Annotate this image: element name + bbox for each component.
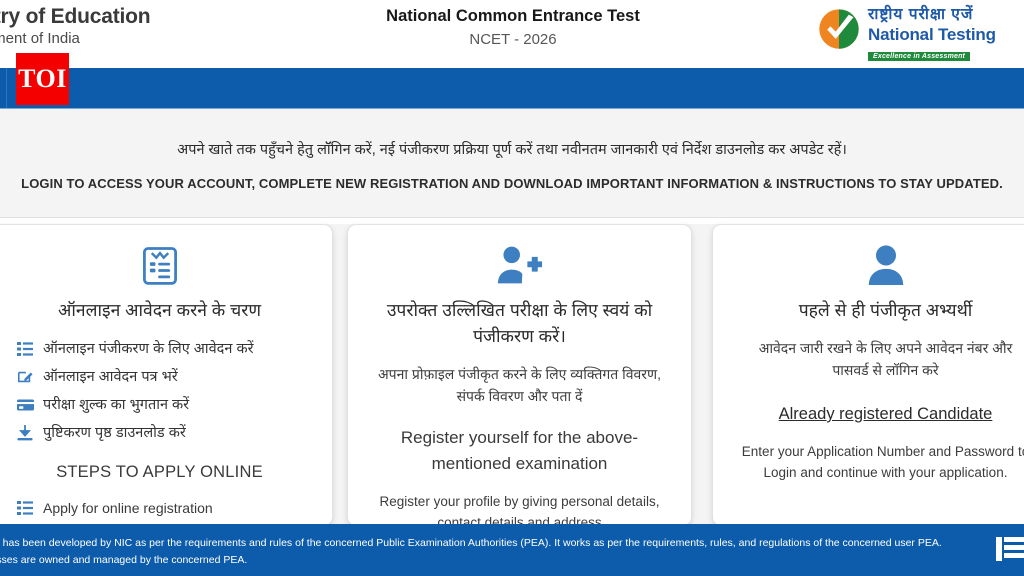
card-register-body-hindi: अपना प्रोफ़ाइल पंजीकृत करने के लिए व्यक्… — [348, 363, 691, 407]
exam-title: National Common Entrance Test — [330, 5, 696, 27]
footer-disclaimer-line2: processes are owned and managed by the c… — [0, 552, 1010, 569]
steps-list-hindi: ऑनलाइन पंजीकरण के लिए आवेदन करें ऑनलाइन … — [0, 335, 332, 447]
card-new-registration[interactable]: उपरोक्त उल्लिखित परीक्षा के लिए स्वयं को… — [347, 224, 692, 526]
edit-square-icon — [17, 369, 43, 385]
navbar-divider — [6, 68, 7, 108]
card-register-body-english: Register your profile by giving personal… — [348, 491, 691, 526]
card-steps-to-apply[interactable]: ऑनलाइन आवेदन करने के चरण ऑनलाइन पंजीकरण … — [0, 224, 333, 526]
card-login-heading-hindi: पहले से ही पंजीकृत अभ्यर्थी — [713, 297, 1024, 323]
nic-logo-icon — [996, 536, 1024, 562]
card-register-heading-english: Register yourself for the above-mentione… — [348, 425, 691, 477]
user-plus-icon — [348, 241, 691, 289]
list-item[interactable]: Apply for online registration — [17, 494, 332, 522]
list-item-label: ऑनलाइन पंजीकरण के लिए आवेदन करें — [43, 339, 254, 359]
list-item-label: पुष्टिकरण पृष्ठ डाउनलोड करें — [43, 423, 186, 443]
nta-logo-block: राष्ट्रीय परीक्षा एजें National Testing … — [818, 4, 1024, 62]
already-registered-candidate-link[interactable]: Already registered Candidate — [713, 401, 1024, 427]
nta-emblem-icon — [818, 8, 860, 50]
ministry-subtitle: vernment of India — [0, 29, 150, 49]
nta-tagline: Excellence in Assessment — [868, 52, 970, 61]
nta-english-name: National Testing — [868, 25, 996, 45]
nta-wordmark: राष्ट्रीय परीक्षा एजें National Testing … — [868, 5, 996, 62]
list-item-label: परीक्षा शुल्क का भुगतान करें — [43, 395, 189, 415]
user-icon — [713, 241, 1024, 289]
nta-hindi-name: राष्ट्रीय परीक्षा एजें — [868, 5, 996, 25]
ministry-logo-block: nistry of Education vernment of India — [0, 4, 150, 49]
clipboard-list-icon — [0, 241, 332, 289]
card-register-heading-hindi: उपरोक्त उल्लिखित परीक्षा के लिए स्वयं को… — [348, 297, 691, 349]
notice-text-hindi: अपने खाते तक पहुँचने हेतु लॉॅगिन करें, न… — [0, 109, 1024, 160]
card-registered-candidate[interactable]: पहले से ही पंजीकृत अभ्यर्थी आवेदन जारी र… — [712, 224, 1024, 526]
card-login-body-hindi: आवेदन जारी रखने के लिए अपने आवेदन नंबर औ… — [713, 337, 1024, 381]
ministry-title: nistry of Education — [0, 4, 150, 30]
exam-title-block: National Common Entrance Test NCET - 202… — [330, 5, 696, 51]
page-header: nistry of Education vernment of India Na… — [0, 0, 1024, 68]
notice-banner: अपने खाते तक पहुँचने हेतु लॉॅगिन करें, न… — [0, 109, 1024, 218]
list-icon — [17, 500, 43, 516]
card-login-body-english: Enter your Application Number and Passwo… — [713, 441, 1024, 483]
list-item[interactable]: ऑनलाइन पंजीकरण के लिए आवेदन करें — [17, 335, 332, 363]
list-icon — [17, 341, 43, 357]
page-footer: atform has been developed by NIC as per … — [0, 524, 1024, 576]
exam-code: NCET - 2026 — [330, 29, 696, 51]
notice-text-english: LOGIN TO ACCESS YOUR ACCOUNT, COMPLETE N… — [0, 160, 1024, 194]
cards-row: ऑनलाइन आवेदन करने के चरण ऑनलाइन पंजीकरण … — [0, 224, 1024, 524]
steps-list-english: Apply for online registration — [0, 494, 332, 522]
toi-watermark-logo: TOI — [16, 53, 69, 105]
list-item[interactable]: पुष्टिकरण पृष्ठ डाउनलोड करें — [17, 419, 332, 447]
download-icon — [17, 425, 43, 441]
card-steps-heading-english: STEPS TO APPLY ONLINE — [0, 463, 332, 482]
card-steps-heading-hindi: ऑनलाइन आवेदन करने के चरण — [0, 297, 332, 323]
list-item[interactable]: परीक्षा शुल्क का भुगतान करें — [17, 391, 332, 419]
list-item[interactable]: ऑनलाइन आवेदन पत्र भरें — [17, 363, 332, 391]
list-item-label: Apply for online registration — [43, 498, 213, 518]
list-item-label: ऑनलाइन आवेदन पत्र भरें — [43, 367, 178, 387]
footer-disclaimer-line1: atform has been developed by NIC as per … — [0, 537, 942, 549]
footer-disclaimer: atform has been developed by NIC as per … — [0, 535, 1010, 569]
primary-navbar[interactable] — [0, 68, 1024, 109]
credit-card-icon — [17, 398, 43, 412]
